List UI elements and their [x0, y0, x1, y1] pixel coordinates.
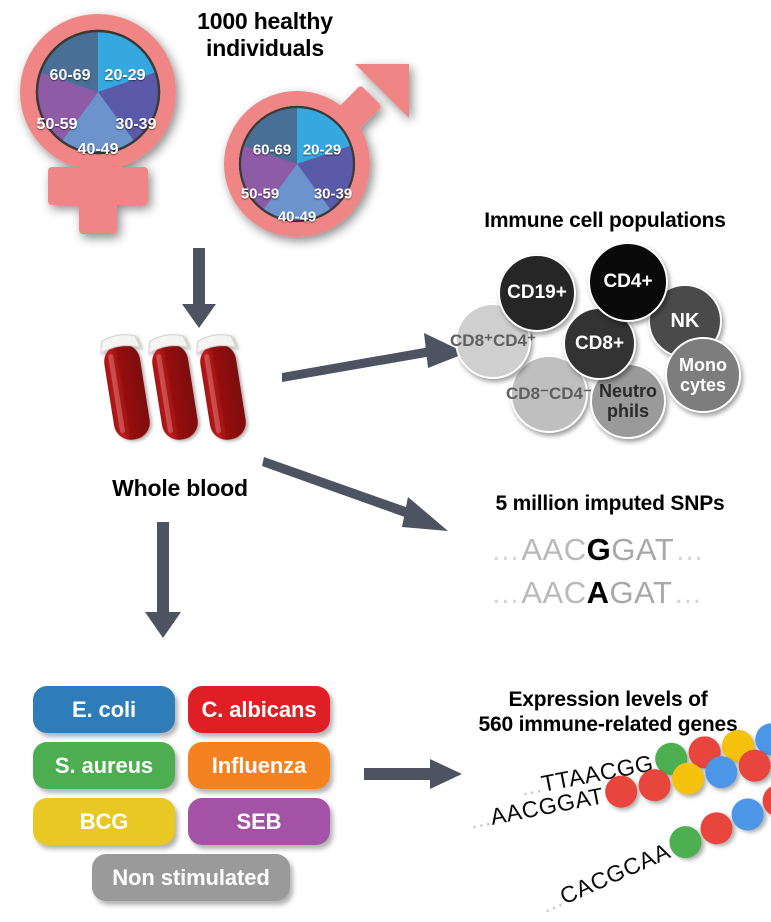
arrow-blood-to-snps — [262, 445, 462, 540]
cell-label-neutrophils: Neutro phils — [599, 381, 657, 421]
snp-right-dots-2: ... — [674, 575, 701, 611]
whole-blood-label: Whole blood — [85, 475, 275, 502]
stimulus-seb[interactable]: SEB — [188, 798, 330, 845]
cell-nk[interactable]: NK — [648, 284, 722, 358]
cell-label-cd4pos: CD4+ — [603, 272, 652, 291]
stimulus-bcg[interactable]: BCG — [33, 798, 175, 845]
dna-bead — [636, 766, 674, 804]
female-gender-symbol: 20-29 30-39 40-49 50-59 60-69 — [6, 12, 206, 237]
stimulus-label-c-albicans: C. albicans — [201, 697, 316, 723]
dna-bead — [669, 760, 707, 798]
cell-cd19pos[interactable]: CD19+ — [498, 254, 576, 332]
arrow-cohort-to-blood — [178, 248, 220, 330]
dna-sequence-3: ...CACGCAA — [537, 837, 675, 918]
stimulus-label-non-stimulated: Non stimulated — [112, 865, 270, 891]
cell-label-cd8pos: CD8+ — [575, 334, 624, 353]
snp-left-dots-1: ... — [492, 532, 519, 568]
stimulus-influenza[interactable]: Influenza — [188, 742, 330, 789]
expression-title-line1: Expression levels of — [452, 688, 764, 713]
expression-title: Expression levels of 560 immune-related … — [452, 688, 764, 738]
snp-highlight-1: G — [587, 532, 612, 568]
snp-prefix-1: AAC — [521, 532, 586, 568]
stimulus-s-aureus[interactable]: S. aureus — [33, 742, 175, 789]
immune-title: Immune cell populations — [455, 209, 755, 234]
male-gender-symbol: 20-29 30-39 40-49 50-59 60-69 — [203, 40, 433, 245]
snp-right-dots-1: ... — [676, 532, 703, 568]
snps-title: 5 million imputed SNPs — [460, 492, 760, 517]
arrow-blood-to-immune — [280, 325, 470, 390]
cell-label-cd8neg-cd4neg: CD8⁻CD4⁻ — [506, 384, 592, 403]
stimulus-label-seb: SEB — [237, 809, 282, 835]
arrow-stimuli-to-expression — [364, 755, 464, 795]
cell-cd8neg-cd4neg[interactable]: CD8⁻CD4⁻ — [510, 355, 588, 433]
snp-suffix-1: GAT — [611, 532, 674, 568]
stimulus-label-s-aureus: S. aureus — [55, 753, 153, 779]
stimulus-label-bcg: BCG — [80, 809, 129, 835]
figure-canvas: 1000 healthy individuals — [0, 0, 771, 922]
cell-label-nk: NK — [671, 311, 700, 331]
cell-label-monocytes: Mono cytes — [679, 355, 727, 395]
dna-bases-2: AACGGAT — [488, 782, 606, 829]
cell-cd8pos[interactable]: CD8+ — [563, 307, 636, 380]
arrow-blood-to-stimuli — [142, 522, 186, 640]
stimulus-c-albicans[interactable]: C. albicans — [188, 686, 330, 733]
snp-highlight-2: A — [587, 575, 610, 611]
snp-sequence-row-1: ... AAC G GAT ... — [492, 532, 704, 568]
stimulus-non-stimulated[interactable]: Non stimulated — [92, 854, 290, 901]
stimulus-label-e-coli: E. coli — [72, 697, 136, 723]
snp-left-dots-2: ... — [492, 575, 519, 611]
stimulus-e-coli[interactable]: E. coli — [33, 686, 175, 733]
dna-bead — [736, 747, 771, 785]
stimulus-label-influenza: Influenza — [212, 753, 306, 779]
dna-bases-3: CACGCAA — [556, 837, 674, 909]
cell-neutrophils[interactable]: Neutro phils — [590, 363, 666, 439]
cell-label-cd19pos: CD19+ — [507, 283, 567, 302]
snp-suffix-2: GAT — [609, 575, 672, 611]
snp-prefix-2: AAC — [521, 575, 586, 611]
cell-cd4pos[interactable]: CD4+ — [588, 242, 668, 322]
cell-monocytes[interactable]: Mono cytes — [665, 337, 741, 413]
dna-bead — [602, 773, 640, 811]
dna-bead — [702, 753, 740, 791]
snp-sequence-row-2: ... AAC A GAT ... — [492, 575, 702, 611]
blood-tubes — [95, 330, 265, 455]
